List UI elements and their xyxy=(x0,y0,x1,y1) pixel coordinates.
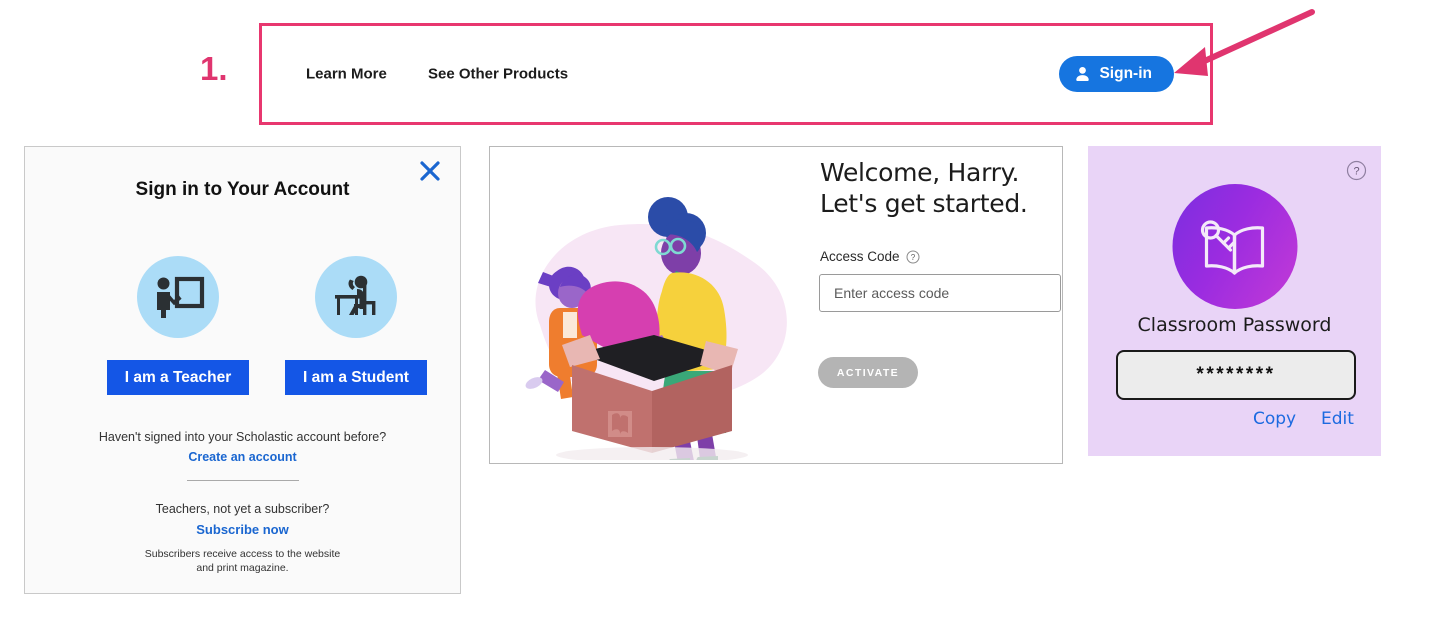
nav-link-learn-more[interactable]: Learn More xyxy=(306,66,387,83)
i-am-a-student-button[interactable]: I am a Student xyxy=(285,360,427,395)
access-code-label-text: Access Code xyxy=(820,249,900,264)
question-mark-icon[interactable]: ? xyxy=(1346,160,1367,181)
subscriber-prompt: Teachers, not yet a subscriber? xyxy=(25,502,460,516)
student-at-desk-icon xyxy=(315,256,397,338)
create-an-account-link[interactable]: Create an account xyxy=(25,450,460,464)
top-nav-bar: Learn More See Other Products Sign-in xyxy=(262,26,1210,122)
access-code-input[interactable] xyxy=(819,274,1061,312)
person-icon xyxy=(1075,66,1090,82)
sign-in-modal: Sign in to Your Account I am a Teacher xyxy=(24,146,461,594)
no-account-prompt: Haven't signed into your Scholastic acco… xyxy=(25,430,460,444)
modal-divider xyxy=(187,480,299,481)
sign-in-button-label: Sign-in xyxy=(1099,65,1152,83)
nav-link-see-other-products[interactable]: See Other Products xyxy=(428,66,568,83)
welcome-heading: Welcome, Harry. Let's get started. xyxy=(820,158,1028,219)
subscriber-note: Subscribers receive access to the websit… xyxy=(25,547,460,575)
svg-text:?: ? xyxy=(1353,166,1359,178)
copy-password-link[interactable]: Copy xyxy=(1253,409,1296,429)
sign-in-button[interactable]: Sign-in xyxy=(1059,56,1174,92)
access-code-label: Access Code ? xyxy=(820,249,920,264)
sign-in-modal-title: Sign in to Your Account xyxy=(25,179,460,201)
classroom-password-title: Classroom Password xyxy=(1088,314,1381,336)
teacher-at-board-icon xyxy=(137,256,219,338)
unboxing-illustration xyxy=(500,175,810,460)
edit-password-link[interactable]: Edit xyxy=(1321,409,1354,429)
classroom-password-value[interactable]: ******** xyxy=(1116,350,1356,400)
key-and-book-icon xyxy=(1172,184,1297,309)
subscribe-now-link[interactable]: Subscribe now xyxy=(25,522,460,537)
activate-button[interactable]: ACTIVATE xyxy=(818,357,918,388)
svg-text:?: ? xyxy=(910,253,915,262)
role-option-student[interactable]: I am a Student xyxy=(281,256,431,395)
step-number-1: 1. xyxy=(200,52,228,85)
classroom-password-panel: ? Classroom Password ******** Copy Edit xyxy=(1088,146,1381,456)
question-mark-icon[interactable]: ? xyxy=(906,250,920,264)
welcome-panel: Welcome, Harry. Let's get started. Acces… xyxy=(489,146,1063,464)
top-nav-bar-highlight-box: Learn More See Other Products Sign-in xyxy=(259,23,1213,125)
role-option-teacher[interactable]: I am a Teacher xyxy=(103,256,253,395)
i-am-a-teacher-button[interactable]: I am a Teacher xyxy=(107,360,249,395)
